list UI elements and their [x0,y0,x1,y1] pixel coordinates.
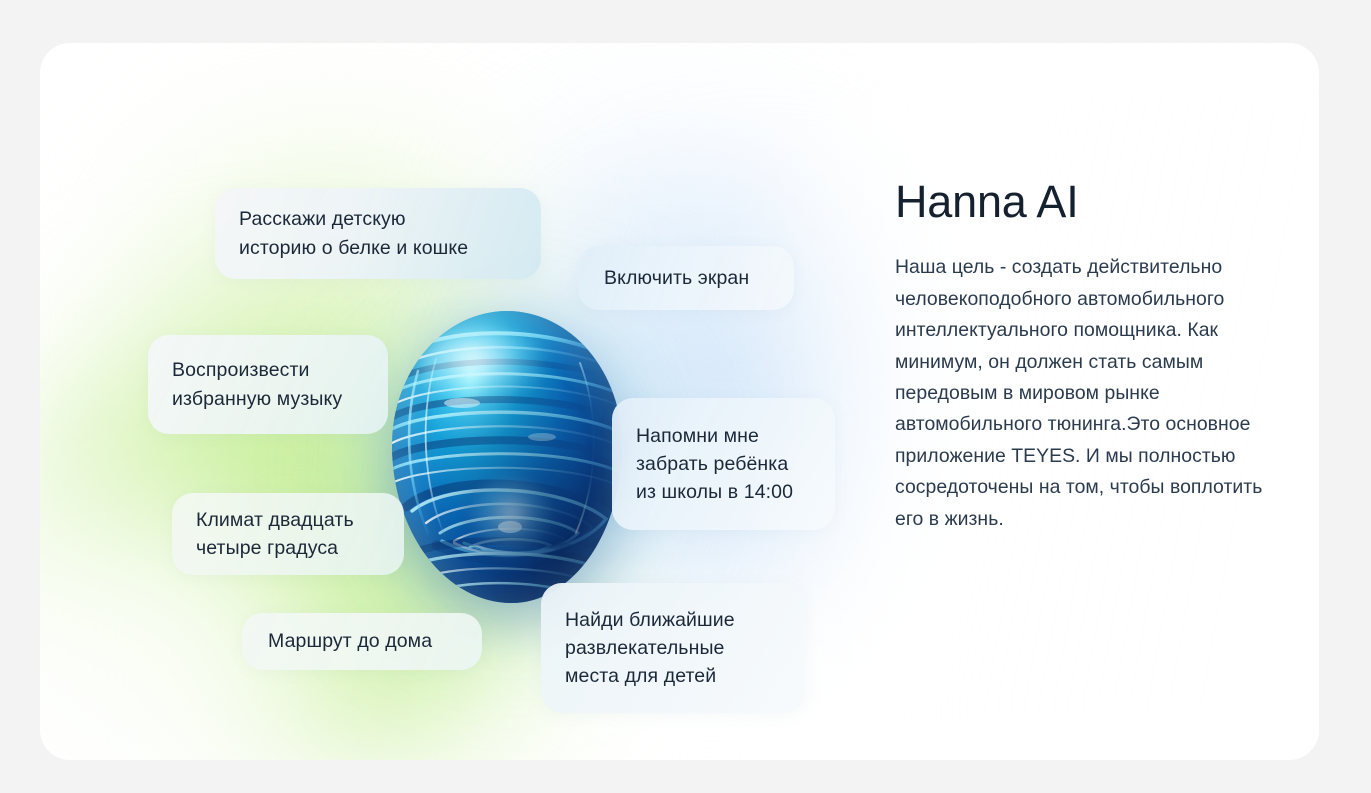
prompt-bubble-screen[interactable]: Включить экран [578,246,794,310]
backdrop-wash-white-top-left [40,43,380,323]
panel-description: Наша цель - создать действительно челове… [895,252,1289,535]
prompt-bubble-route-label: Маршрут до дома [268,627,432,655]
prompt-bubble-screen-label: Включить экран [604,264,749,292]
hanna-ai-orb [392,311,622,603]
prompt-bubble-places[interactable]: Найди ближайшие развлекательные места дл… [541,583,805,713]
prompt-bubble-places-label: Найди ближайшие развлекательные места дл… [565,606,735,690]
orb-body [392,311,622,603]
prompt-bubble-reminder[interactable]: Напомни мне забрать ребёнка из школы в 1… [612,398,835,530]
prompt-bubble-story-label: Расскажи детскую историю о белке и кошке [239,205,468,261]
prompt-bubble-climate[interactable]: Климат двадцать четыре градуса [172,493,404,575]
hero-card: Расскажи детскую историю о белке и кошке… [40,43,1319,760]
prompt-bubble-reminder-label: Напомни мне забрать ребёнка из школы в 1… [636,422,793,506]
info-panel: Hanna AI Наша цель - создать действитель… [895,178,1295,535]
prompt-bubble-music-label: Воспроизвести избранную музыку [172,356,342,412]
prompt-bubble-story[interactable]: Расскажи детскую историю о белке и кошке [215,188,541,279]
prompt-bubble-music[interactable]: Воспроизвести избранную музыку [148,335,388,434]
prompt-bubble-climate-label: Климат двадцать четыре градуса [196,506,354,562]
page-title: Hanna AI [895,178,1295,225]
prompt-bubble-route[interactable]: Маршрут до дома [242,613,482,670]
